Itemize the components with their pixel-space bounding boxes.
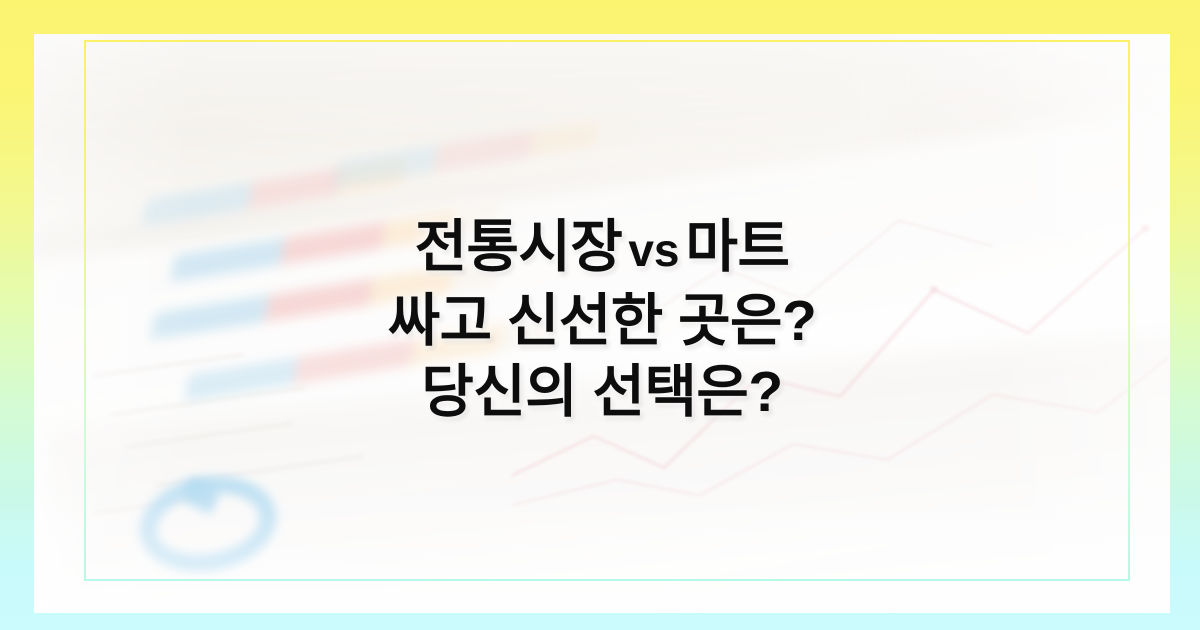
headline-vs-token: vs <box>622 224 685 276</box>
headline-block: 전통시장vs마트 싸고 신선한 곳은? 당신의 선택은? <box>34 212 1170 428</box>
photo-panel: 전통시장vs마트 싸고 신선한 곳은? 당신의 선택은? <box>34 34 1170 613</box>
bar-segment-red <box>249 168 341 209</box>
headline-line-1-topic-a: 전통시장 <box>415 215 623 279</box>
headline-line-2: 싸고 신선한 곳은? <box>34 286 1170 357</box>
background-donut-chart <box>132 466 284 583</box>
headline-line-1-topic-b: 마트 <box>686 215 790 279</box>
headline-line-1: 전통시장vs마트 <box>34 212 1170 286</box>
thumbnail-card: 전통시장vs마트 싸고 신선한 곳은? 당신의 선택은? <box>0 0 1200 630</box>
headline-line-3: 당신의 선택은? <box>34 357 1170 428</box>
